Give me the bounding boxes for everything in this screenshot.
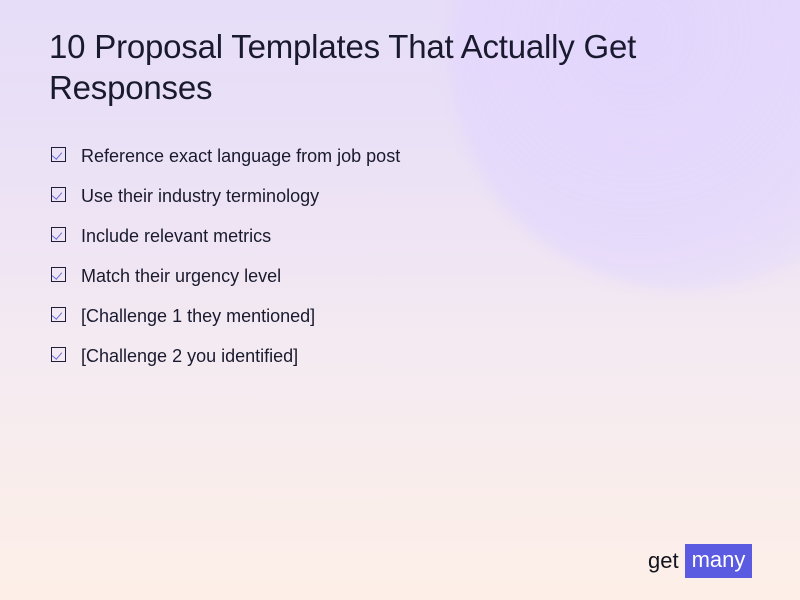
list-item: Use their industry terminology (50, 176, 750, 216)
logo-word-many: many (685, 544, 753, 578)
slide-canvas: 10 Proposal Templates That Actually Get … (0, 0, 800, 600)
list-item-label: Match their urgency level (81, 265, 281, 287)
checked-checkbox-icon (50, 187, 72, 205)
list-item: Match their urgency level (50, 256, 750, 296)
list-item: [Challenge 2 you identified] (50, 336, 750, 376)
checked-checkbox-icon (50, 147, 72, 165)
list-item-label: Include relevant metrics (81, 225, 271, 247)
checklist: Reference exact language from job post U… (50, 136, 750, 376)
list-item: Include relevant metrics (50, 216, 750, 256)
checked-checkbox-icon (50, 267, 72, 285)
list-item-label: Reference exact language from job post (81, 145, 400, 167)
list-item-label: Use their industry terminology (81, 185, 319, 207)
brand-logo: get many (648, 545, 752, 577)
checked-checkbox-icon (50, 347, 72, 365)
checked-checkbox-icon (50, 227, 72, 245)
page-title: 10 Proposal Templates That Actually Get … (49, 26, 739, 108)
logo-word-get: get (648, 546, 679, 576)
list-item-label: [Challenge 2 you identified] (81, 345, 298, 367)
list-item-label: [Challenge 1 they mentioned] (81, 305, 315, 327)
list-item: Reference exact language from job post (50, 136, 750, 176)
list-item: [Challenge 1 they mentioned] (50, 296, 750, 336)
checked-checkbox-icon (50, 307, 72, 325)
